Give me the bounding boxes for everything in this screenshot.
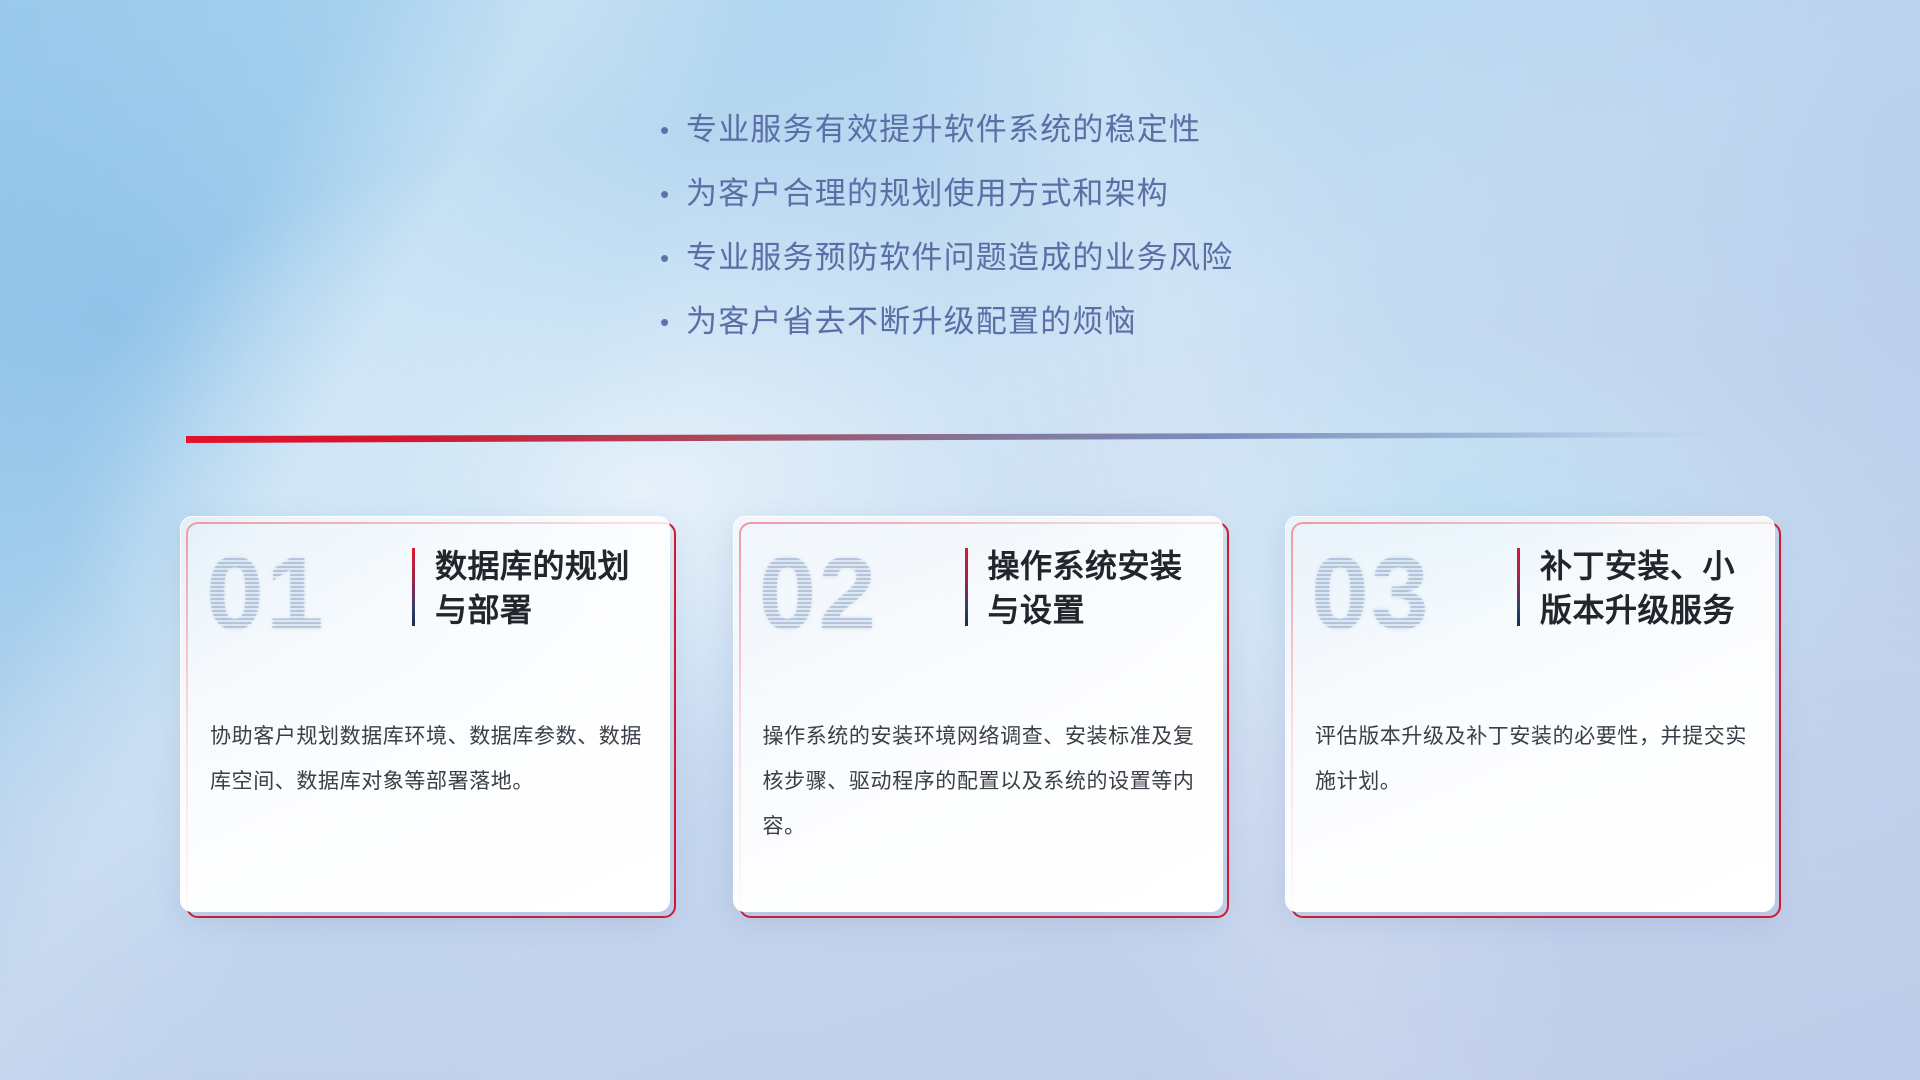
bullet-dot-icon: • [660, 238, 686, 278]
card-title: 操作系统安装与设置 [988, 544, 1200, 632]
card-number-watermark: 01 [206, 534, 406, 654]
feature-card[interactable]: 02 02 操作系统安装与设置 操作系统的安装环境网络调查、安装标准及复核步骤、… [733, 516, 1223, 912]
slide-root: • 专业服务有效提升软件系统的稳定性 • 为客户合理的规划使用方式和架构 • 专… [0, 0, 1920, 1080]
card-description: 评估版本升级及补丁安装的必要性，并提交实施计划。 [1315, 714, 1747, 804]
card-surface: 02 02 操作系统安装与设置 操作系统的安装环境网络调查、安装标准及复核步骤、… [733, 516, 1223, 912]
bullet-text: 专业服务有效提升软件系统的稳定性 [686, 110, 1201, 150]
bullet-dot-icon: • [660, 174, 686, 214]
bullet-text: 专业服务预防软件问题造成的业务风险 [686, 238, 1233, 278]
card-header: 数据库的规划与部署 [412, 544, 647, 632]
card-accent-bar-icon [965, 548, 968, 626]
feature-card[interactable]: 03 03 补丁安装、小版本升级服务 评估版本升级及补丁安装的必要性，并提交实施… [1285, 516, 1775, 912]
card-surface: 03 03 补丁安装、小版本升级服务 评估版本升级及补丁安装的必要性，并提交实施… [1285, 516, 1775, 912]
card-title: 数据库的规划与部署 [435, 544, 647, 632]
section-divider [186, 424, 1716, 446]
bullet-item: • 为客户省去不断升级配置的烦恼 [660, 302, 1480, 366]
card-description: 协助客户规划数据库环境、数据库参数、数据库空间、数据库对象等部署落地。 [210, 714, 642, 804]
card-header: 补丁安装、小版本升级服务 [1517, 544, 1752, 632]
card-number-watermark: 03 [1311, 534, 1511, 654]
card-accent-bar-icon [412, 548, 415, 626]
feature-card-list: 01 01 数据库的规划与部署 协助客户规划数据库环境、数据库参数、数据库空间、… [180, 516, 1775, 912]
bullet-dot-icon: • [660, 302, 686, 342]
bullet-item: • 为客户合理的规划使用方式和架构 [660, 174, 1480, 238]
card-title: 补丁安装、小版本升级服务 [1540, 544, 1752, 632]
bullet-dot-icon: • [660, 110, 686, 150]
bullet-text: 为客户省去不断升级配置的烦恼 [686, 302, 1137, 342]
bullet-item: • 专业服务有效提升软件系统的稳定性 [660, 110, 1480, 174]
bullet-text: 为客户合理的规划使用方式和架构 [686, 174, 1169, 214]
bullet-item: • 专业服务预防软件问题造成的业务风险 [660, 238, 1480, 302]
card-description: 操作系统的安装环境网络调查、安装标准及复核步骤、驱动程序的配置以及系统的设置等内… [763, 714, 1195, 849]
card-accent-bar-icon [1517, 548, 1520, 626]
card-number-watermark: 02 [759, 534, 959, 654]
card-header: 操作系统安装与设置 [965, 544, 1200, 632]
card-surface: 01 01 数据库的规划与部署 协助客户规划数据库环境、数据库参数、数据库空间、… [180, 516, 670, 912]
feature-card[interactable]: 01 01 数据库的规划与部署 协助客户规划数据库环境、数据库参数、数据库空间、… [180, 516, 670, 912]
bullet-list: • 专业服务有效提升软件系统的稳定性 • 为客户合理的规划使用方式和架构 • 专… [660, 110, 1480, 366]
